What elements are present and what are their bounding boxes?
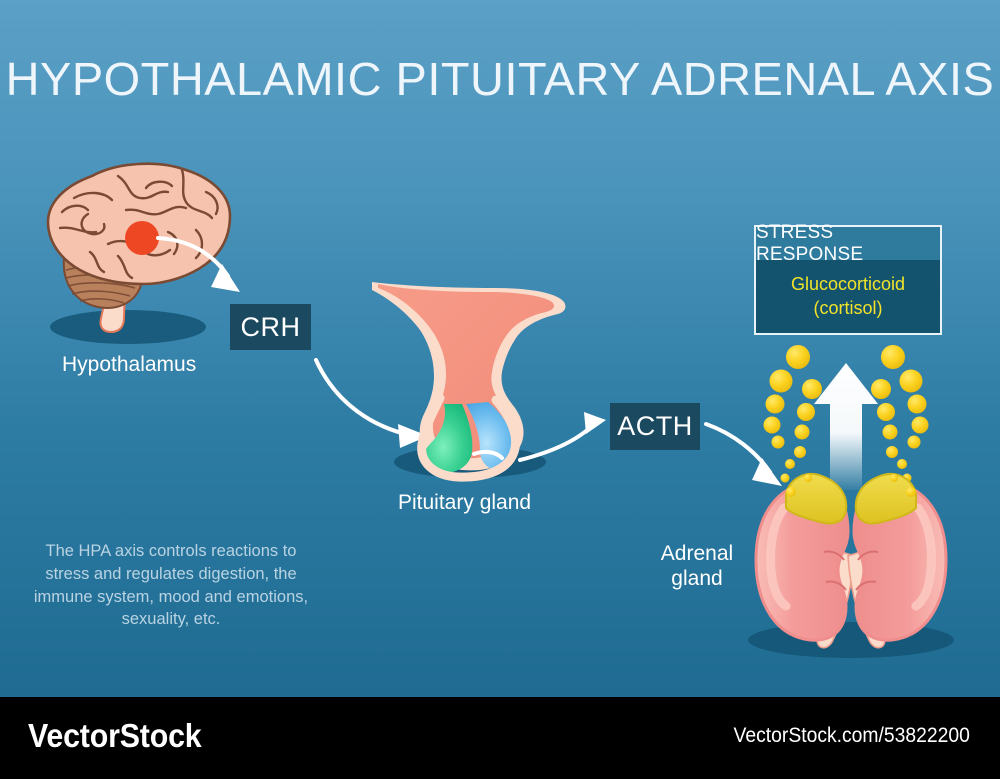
tag-acth: ACTH bbox=[610, 403, 700, 450]
stress-response-header: STRESS RESPONSE bbox=[756, 227, 940, 260]
cortisol-particles-right bbox=[871, 345, 929, 494]
cortisol-bead-left-b bbox=[804, 474, 812, 482]
tag-crh: CRH bbox=[230, 304, 311, 350]
arrow-hypothalamus-to-crh-head bbox=[211, 264, 240, 292]
brain-shadow bbox=[50, 310, 206, 344]
watermark-footer: VectorStock VectorStock.com/53822200 bbox=[0, 697, 1000, 779]
vectorstock-url: VectorStock.com/53822200 bbox=[734, 724, 970, 748]
glucocorticoid-line: Glucocorticoid bbox=[791, 273, 905, 296]
cortisol-bead-left-a bbox=[786, 487, 796, 497]
label-pituitary-gland: Pituitary gland bbox=[398, 491, 531, 516]
pituitary-illustration bbox=[372, 282, 565, 477]
arrow-pituitary-to-acth-head bbox=[584, 412, 606, 434]
label-hypothalamus: Hypothalamus bbox=[62, 353, 196, 378]
brain-illustration bbox=[48, 164, 230, 332]
cortisol-bead-right-a bbox=[906, 487, 916, 497]
diagram-canvas: HYPOTHALAMIC PITUITARY ADRENAL AXIS bbox=[0, 0, 1000, 697]
cortisol-bead-right-b bbox=[890, 474, 898, 482]
hpa-axis-caption: The HPA axis controls reactions to stres… bbox=[30, 540, 312, 631]
illustration-stage: HYPOTHALAMIC PITUITARY ADRENAL AXIS bbox=[0, 0, 1000, 779]
stress-response-body: Glucocorticoid (cortisol) bbox=[756, 260, 940, 333]
cortisol-up-arrow bbox=[814, 363, 878, 490]
vectorstock-logo: VectorStock bbox=[28, 717, 201, 755]
stress-response-panel: STRESS RESPONSE Glucocorticoid (cortisol… bbox=[754, 225, 942, 335]
cortisol-particles-left bbox=[764, 345, 823, 494]
cortisol-line: (cortisol) bbox=[813, 297, 882, 320]
label-adrenal-gland: Adrenal gland bbox=[655, 542, 739, 592]
hypothalamus-marker-dot bbox=[125, 221, 159, 255]
kidneys-illustration bbox=[756, 474, 946, 648]
arrow-acth-to-adrenal-head bbox=[752, 458, 782, 486]
